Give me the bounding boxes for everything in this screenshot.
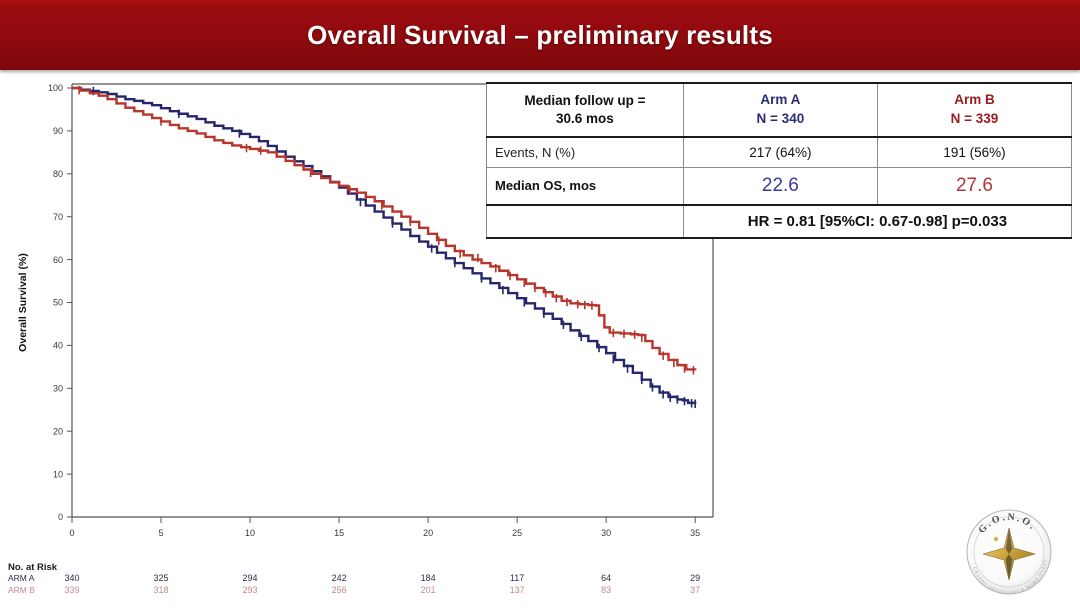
results-summary-table: Median follow up = 30.6 mos Arm A N = 34… [486, 82, 1072, 239]
risk-row-label-arm-a: ARM A [8, 573, 34, 583]
arm-a-name: Arm A [760, 92, 800, 107]
risk-value-arm-a: 294 [233, 573, 267, 583]
risk-value-arm-b: 83 [589, 585, 623, 595]
gono-logo: G.O.N.O. GRUPPO ONCOLOGICO NORD OVEST [957, 500, 1062, 605]
number-at-risk-table: No. at Risk ARM A 3403252942421841176429… [8, 562, 748, 607]
y-axis-title: Overall Survival (%) [17, 253, 29, 352]
y-tick-label: 20 [53, 426, 63, 436]
y-tick-label: 50 [53, 298, 63, 308]
risk-value-arm-a: 117 [500, 573, 534, 583]
y-tick-label: 10 [53, 469, 63, 479]
x-tick-label: 35 [690, 528, 700, 538]
x-tick-label: 20 [423, 528, 433, 538]
risk-row-arm-a: ARM A 3403252942421841176429 [8, 573, 748, 585]
risk-row-label-arm-b: ARM B [8, 585, 35, 595]
banner-highlight [0, 0, 1080, 4]
risk-value-arm-b: 201 [411, 585, 445, 595]
slide-title-banner: Overall Survival – preliminary results [0, 0, 1080, 70]
risk-value-arm-b: 293 [233, 585, 267, 595]
table-row: Events, N (%) 217 (64%) 191 (56%) [487, 137, 1072, 168]
header-cell-arm-b: Arm B N = 339 [877, 83, 1071, 137]
arm-b-n: N = 339 [951, 111, 999, 126]
x-tick-label: 30 [601, 528, 611, 538]
arm-a-n: N = 340 [757, 111, 805, 126]
risk-value-arm-b: 339 [55, 585, 89, 595]
x-tick-label: 25 [512, 528, 522, 538]
table-header-row: Median follow up = 30.6 mos Arm A N = 34… [487, 83, 1072, 137]
header-cell-followup: Median follow up = 30.6 mos [487, 83, 684, 137]
risk-value-arm-b: 37 [678, 585, 712, 595]
hazard-ratio-value: HR = 0.81 [95%CI: 0.67-0.98] p=0.033 [683, 205, 1071, 238]
risk-value-arm-a: 184 [411, 573, 445, 583]
x-tick-label: 10 [245, 528, 255, 538]
header-cell-arm-a: Arm A N = 340 [683, 83, 877, 137]
risk-value-arm-a: 29 [678, 573, 712, 583]
risk-value-arm-b: 318 [144, 585, 178, 595]
y-tick-label: 70 [53, 212, 63, 222]
median-os-arm-a: 22.6 [683, 167, 877, 205]
y-tick-label: 100 [48, 83, 63, 93]
table-row-hazard-ratio: HR = 0.81 [95%CI: 0.67-0.98] p=0.033 [487, 205, 1072, 238]
arm-b-name: Arm B [954, 92, 995, 107]
risk-value-arm-a: 64 [589, 573, 623, 583]
followup-line1: Median follow up = [524, 93, 645, 108]
row-label-median-os: Median OS, mos [487, 167, 684, 205]
y-tick-label: 80 [53, 169, 63, 179]
risk-value-arm-b: 137 [500, 585, 534, 595]
table-row: Median OS, mos 22.6 27.6 [487, 167, 1072, 205]
x-tick-label: 5 [159, 528, 164, 538]
gono-logo-svg: G.O.N.O. GRUPPO ONCOLOGICO NORD OVEST [957, 500, 1062, 605]
events-arm-a: 217 (64%) [683, 137, 877, 168]
risk-value-arm-a: 325 [144, 573, 178, 583]
risk-value-arm-a: 242 [322, 573, 356, 583]
y-tick-label: 60 [53, 255, 63, 265]
risk-value-arm-a: 340 [55, 573, 89, 583]
y-tick-label: 30 [53, 384, 63, 394]
median-os-arm-b: 27.6 [877, 167, 1071, 205]
risk-row-arm-b: ARM B 3393182932562011378337 [8, 585, 748, 597]
y-tick-label: 0 [58, 512, 63, 522]
y-tick-label: 90 [53, 126, 63, 136]
row-label-events: Events, N (%) [487, 137, 684, 168]
hr-empty-cell [487, 205, 684, 238]
events-arm-b: 191 (56%) [877, 137, 1071, 168]
risk-table-title: No. at Risk [8, 562, 748, 573]
page-title: Overall Survival – preliminary results [307, 20, 773, 51]
y-tick-label: 40 [53, 341, 63, 351]
x-tick-label: 15 [334, 528, 344, 538]
x-tick-label: 0 [69, 528, 74, 538]
followup-line2: 30.6 mos [556, 111, 614, 126]
risk-value-arm-b: 256 [322, 585, 356, 595]
